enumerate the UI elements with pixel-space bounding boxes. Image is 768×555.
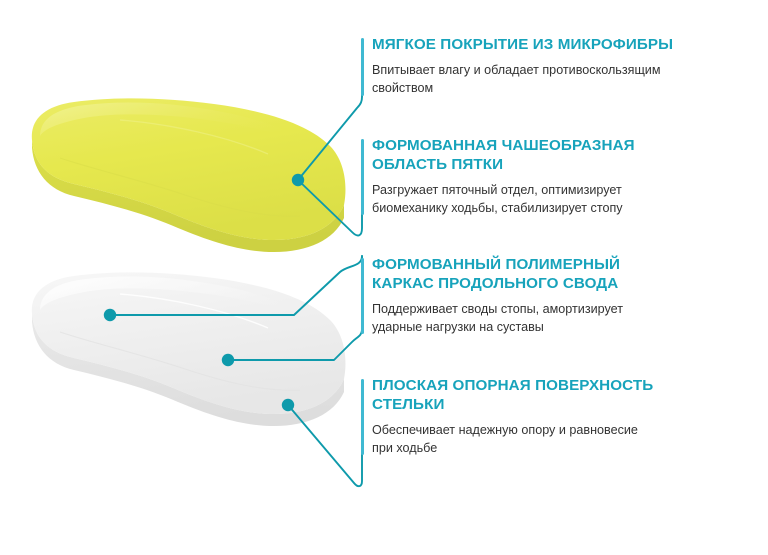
callout-dot-2[interactable]	[104, 309, 116, 321]
callout-title: ФОРМОВАННЫЙ ПОЛИМЕРНЫЙ КАРКАС ПРОДОЛЬНОГ…	[372, 256, 692, 294]
callout-accent-bar	[361, 258, 364, 334]
leader-dots	[104, 174, 304, 411]
leader-line-4	[228, 256, 362, 360]
callout-block-4: ПЛОСКАЯ ОПОРНАЯ ПОВЕРХНОСТЬ СТЕЛЬКИ Обес…	[372, 377, 692, 457]
callout-dot-1[interactable]	[292, 174, 304, 186]
white-insole-shape	[32, 272, 346, 426]
callout-block-3: ФОРМОВАННЫЙ ПОЛИМЕРНЫЙ КАРКАС ПРОДОЛЬНОГ…	[372, 256, 692, 336]
callout-description: Поддерживает своды стопы, амортизирует у…	[372, 301, 692, 337]
callout-block-2: ФОРМОВАННАЯ ЧАШЕОБРАЗНАЯ ОБЛАСТЬ ПЯТКИ Р…	[372, 137, 692, 217]
leader-line-2	[298, 141, 362, 235]
callout-accent-bar	[361, 38, 364, 96]
callout-block-1: МЯГКОЕ ПОКРЫТИЕ ИЗ МИКРОФИБРЫ Впитывает …	[372, 36, 692, 98]
callout-title: ПЛОСКАЯ ОПОРНАЯ ПОВЕРХНОСТЬ СТЕЛЬКИ	[372, 377, 692, 415]
leader-line-1	[298, 40, 362, 180]
callout-dot-4[interactable]	[282, 399, 294, 411]
yellow-insole-shape	[32, 98, 346, 252]
callout-accent-bar	[361, 379, 364, 455]
callout-accent-bar	[361, 139, 364, 215]
callout-dot-3[interactable]	[222, 354, 234, 366]
callout-title: ФОРМОВАННАЯ ЧАШЕОБРАЗНАЯ ОБЛАСТЬ ПЯТКИ	[372, 137, 692, 175]
leader-line-5	[288, 381, 362, 486]
callout-description: Разгружает пяточный отдел, оптимизирует …	[372, 182, 692, 218]
callout-description: Впитывает влагу и обладает противоскольз…	[372, 62, 692, 98]
callout-description: Обеспечивает надежную опору и равновесие…	[372, 422, 692, 458]
infographic-canvas: МЯГКОЕ ПОКРЫТИЕ ИЗ МИКРОФИБРЫ Впитывает …	[0, 0, 768, 555]
leader-lines	[110, 40, 362, 486]
leader-line-3	[110, 256, 362, 315]
callout-title: МЯГКОЕ ПОКРЫТИЕ ИЗ МИКРОФИБРЫ	[372, 36, 692, 55]
